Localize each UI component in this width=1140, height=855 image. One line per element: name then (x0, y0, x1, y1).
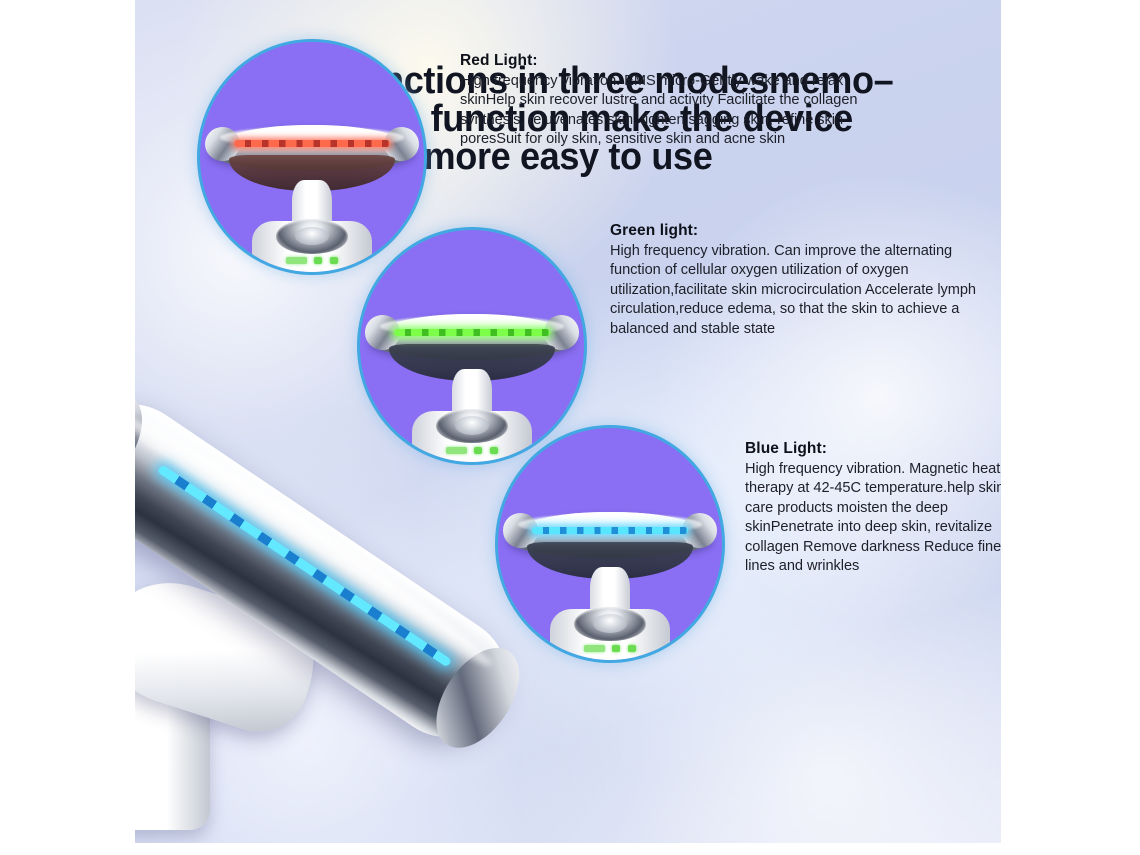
feature-text-blue: Blue Light: High frequency vibration. Ma… (745, 440, 1001, 576)
feature-body-red: High frequency vibration. EMS micro-Gent… (460, 72, 860, 150)
feature-body-green: High frequency vibration. Can improve th… (610, 242, 985, 339)
device-indicator-lights (570, 645, 651, 652)
feature-text-red: Red Light: High frequency vibration. EMS… (460, 52, 860, 150)
led-strip-blue-icon (532, 527, 689, 534)
device-image-blue (498, 428, 722, 660)
device-metal-cone (276, 219, 348, 254)
led-strip-green-icon (394, 329, 551, 336)
feature-heading-green: Green light: (610, 222, 985, 240)
feature-heading-red: Red Light: (460, 52, 860, 70)
hero-led-strip-blue-icon (157, 464, 452, 667)
led-strip-red-icon (234, 140, 391, 147)
hero-device-prong (135, 565, 327, 744)
feature-text-green: Green light: High frequency vibration. C… (610, 222, 985, 339)
device-metal-cone (574, 607, 646, 642)
device-indicator-lights (272, 257, 353, 264)
feature-heading-blue: Blue Light: (745, 440, 1001, 458)
hero-device-stem (135, 680, 210, 830)
product-infographic: Three functions in three modesmemo– ry m… (0, 0, 1140, 855)
product-badge-blue (498, 428, 722, 660)
infographic-panel: Three functions in three modesmemo– ry m… (135, 0, 1001, 843)
hero-metal-cone (135, 672, 200, 792)
hero-head-cap-left (135, 379, 159, 509)
feature-body-blue: High frequency vibration. Magnetic heat … (745, 460, 1001, 576)
